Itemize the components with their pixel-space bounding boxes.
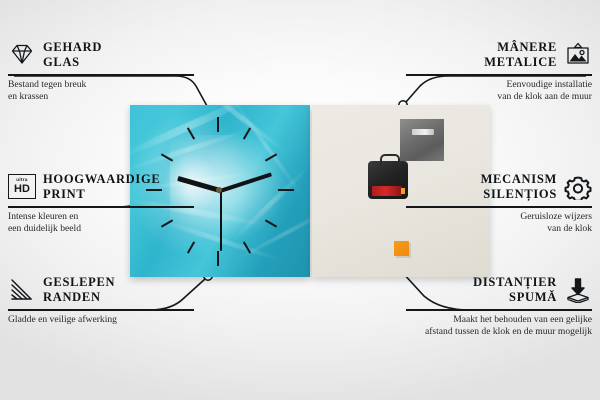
title-line-2: GLAS xyxy=(43,55,102,70)
hanging-loop xyxy=(380,154,400,166)
feature-description: Bestand tegen breuk en krassen xyxy=(8,79,194,105)
title-line-2: SILENȚIOS xyxy=(481,187,557,202)
title-line-2: METALICE xyxy=(484,55,557,70)
divider xyxy=(8,206,194,208)
desc-line-1: Bestand tegen breuk xyxy=(8,79,194,92)
divider xyxy=(406,309,592,311)
center-pin xyxy=(216,187,222,193)
feature-header: GESLEPEN RANDEN xyxy=(8,273,194,307)
beveled-edge-icon xyxy=(8,277,36,303)
battery-terminal xyxy=(401,188,405,194)
divider xyxy=(8,74,194,76)
title-line-2: SPUMĂ xyxy=(473,290,557,305)
divider xyxy=(8,309,194,311)
tick-2 xyxy=(265,153,277,161)
feature-description: Gladde en veilige afwerking xyxy=(8,314,194,327)
foam-spacer xyxy=(394,241,409,256)
desc-line-2: van de klok xyxy=(406,223,592,236)
feature-title: DISTANȚIER SPUMĂ xyxy=(473,275,557,306)
title-line-2: RANDEN xyxy=(43,290,115,305)
tick-5 xyxy=(243,241,251,253)
desc-line-1: Geruisloze wijzers xyxy=(406,211,592,224)
feature-title: HOOGWAARDIGE PRINT xyxy=(43,172,160,203)
feature-header: DISTANȚIER SPUMĂ xyxy=(406,273,592,307)
tick-11 xyxy=(187,127,195,139)
feature-mecanism-silentios: MECANISM SILENȚIOS Geruisloze wijzers va… xyxy=(406,170,592,236)
tick-10 xyxy=(161,153,173,161)
feature-manere-metalice: MÂNERE METALICE Eenvoudige installatie v… xyxy=(406,38,592,104)
feature-distantier-spuma: DISTANȚIER SPUMĂ Maakt het behouden van … xyxy=(406,273,592,339)
desc-line-2: afstand tussen de klok en de muur mogeli… xyxy=(406,326,592,339)
title-line-1: HOOGWAARDIGE xyxy=(43,172,160,187)
feature-description: Maakt het behouden van een gelijke afsta… xyxy=(406,314,592,340)
title-line-1: GESLEPEN xyxy=(43,275,115,290)
desc-line-1: Maakt het behouden van een gelijke xyxy=(406,314,592,327)
feature-header: GEHARD GLAS xyxy=(8,38,194,72)
second-hand xyxy=(220,189,222,251)
desc-line-1: Intense kleuren en xyxy=(8,211,194,224)
feature-title: GEHARD GLAS xyxy=(43,40,102,71)
feature-title: GESLEPEN RANDEN xyxy=(43,275,115,306)
quartz-movement-box xyxy=(368,161,408,199)
tick-4 xyxy=(265,219,277,227)
arrow-down-onto-pad-icon xyxy=(564,277,592,303)
tick-7 xyxy=(187,241,195,253)
title-line-1: GEHARD xyxy=(43,40,102,55)
minute-hand xyxy=(217,172,272,193)
aa-battery xyxy=(372,186,402,196)
metal-hanger-plate xyxy=(400,119,444,161)
feature-description: Eenvoudige installatie van de klok aan d… xyxy=(406,79,592,105)
gear-icon xyxy=(564,174,592,200)
feature-geslepen-randen: GESLEPEN RANDEN Gladde en veilige afwerk… xyxy=(8,273,194,326)
title-line-2: PRINT xyxy=(43,187,160,202)
desc-line-1: Gladde en veilige afwerking xyxy=(8,314,194,327)
diamond-icon xyxy=(8,42,36,68)
tick-3 xyxy=(278,189,294,191)
feature-description: Intense kleuren en een duidelijk beeld xyxy=(8,211,194,237)
feature-hoogwaardige-print: ultra HD HOOGWAARDIGE PRINT Intense kleu… xyxy=(8,170,194,236)
feature-gehard-glas: GEHARD GLAS Bestand tegen breuk en krass… xyxy=(8,38,194,104)
feature-title: MÂNERE METALICE xyxy=(484,40,557,71)
framed-picture-hanging-icon xyxy=(564,42,592,68)
tick-12 xyxy=(217,117,219,132)
desc-line-2: een duidelijk beeld xyxy=(8,223,194,236)
feature-title: MECANISM SILENȚIOS xyxy=(481,172,557,203)
divider xyxy=(406,206,592,208)
desc-line-2: en krassen xyxy=(8,91,194,104)
hd-label: HD xyxy=(14,184,30,195)
tick-1 xyxy=(243,127,251,139)
feature-description: Geruisloze wijzers van de klok xyxy=(406,211,592,237)
desc-line-2: van de klok aan de muur xyxy=(406,91,592,104)
feature-header: MÂNERE METALICE xyxy=(406,38,592,72)
ultra-hd-badge-icon: ultra HD xyxy=(8,174,36,200)
desc-line-1: Eenvoudige installatie xyxy=(406,79,592,92)
feature-header: ultra HD HOOGWAARDIGE PRINT xyxy=(8,170,194,204)
title-line-1: MECANISM xyxy=(481,172,557,187)
feature-header: MECANISM SILENȚIOS xyxy=(406,170,592,204)
divider xyxy=(406,74,592,76)
title-line-1: DISTANȚIER xyxy=(473,275,557,290)
tick-6 xyxy=(217,251,219,266)
title-line-1: MÂNERE xyxy=(484,40,557,55)
hanger-slot xyxy=(412,129,434,135)
infographic-canvas: GEHARD GLAS Bestand tegen breuk en krass… xyxy=(0,0,600,400)
